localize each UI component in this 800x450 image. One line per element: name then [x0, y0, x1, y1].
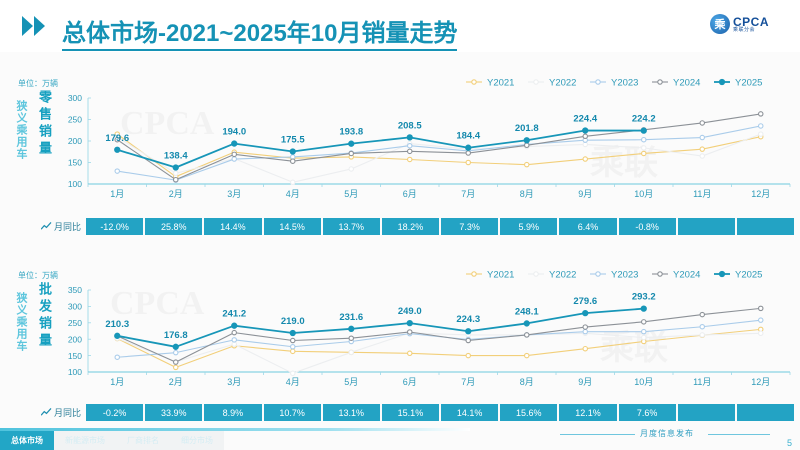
series-point-Y2023 [232, 157, 236, 161]
data-label: 208.5 [398, 120, 422, 131]
series-point-Y2023 [291, 155, 295, 159]
retail-panel: 单位：万辆 狭义乘用车 零售销量 1001502002503001月2月3月4月… [0, 60, 800, 250]
series-point-Y2025 [173, 165, 178, 170]
y-tick-label: 100 [68, 367, 82, 377]
series-point-Y2024 [349, 151, 353, 155]
series-line-Y2025 [117, 309, 644, 347]
series-point-Y2022 [642, 146, 646, 150]
series-point-Y2022 [174, 171, 178, 175]
table-cell: 33.9% [145, 404, 202, 421]
x-tick-label: 2月 [169, 377, 183, 387]
retail-table: 月同比 -12.0%25.8%14.4%14.5%13.7%18.2%7.3%5… [18, 218, 794, 235]
series-point-Y2021 [700, 147, 704, 151]
retail-chart: 1001502002503001月2月3月4月5月6月7月8月9月10月11月1… [58, 72, 794, 202]
series-point-Y2024 [408, 330, 412, 334]
series-point-Y2023 [291, 345, 295, 349]
slide-page: 总体市场-2021~2025年10月销量走势 乘 CPCA 乘联分会 CPCA … [0, 0, 800, 450]
data-label: 224.4 [573, 114, 597, 125]
data-label: 249.0 [398, 306, 422, 317]
trend-up-icon [41, 408, 52, 417]
data-label: 210.3 [105, 319, 129, 330]
series-point-Y2025 [232, 141, 237, 146]
series-point-Y2025 [583, 310, 588, 315]
series-point-Y2024 [759, 306, 763, 310]
footer-rule-left [560, 434, 635, 435]
legend-marker [472, 80, 476, 84]
series-point-Y2023 [642, 138, 646, 142]
series-point-Y2024 [583, 134, 587, 138]
footer-tabs[interactable]: 总体市场新能源市场厂商排名细分市场 [0, 431, 224, 450]
table-cell: -0.2% [86, 404, 143, 421]
series-point-Y2023 [115, 355, 119, 359]
series-point-Y2023 [408, 144, 412, 148]
table-cell [737, 404, 794, 421]
series-point-Y2025 [641, 306, 646, 311]
x-tick-label: 9月 [578, 377, 592, 387]
table-cell: 8.9% [204, 404, 261, 421]
unit-label: 单位：万辆 [18, 270, 58, 281]
table-cell: 7.6% [619, 404, 676, 421]
series-point-Y2024 [583, 325, 587, 329]
series-point-Y2024 [232, 330, 236, 334]
series-point-Y2025 [407, 135, 412, 140]
table-row-header: 月同比 [18, 218, 86, 235]
series-point-Y2023 [700, 325, 704, 329]
series-point-Y2022 [349, 167, 353, 171]
x-tick-label: 9月 [578, 189, 592, 199]
table-cell: 14.4% [204, 218, 261, 235]
x-tick-label: 4月 [286, 377, 300, 387]
legend-marker [719, 79, 724, 84]
table-cell: 13.1% [323, 404, 380, 421]
x-tick-label: 8月 [520, 189, 534, 199]
series-line-Y2021 [117, 329, 761, 367]
series-point-Y2022 [583, 142, 587, 146]
series-point-Y2024 [291, 159, 295, 163]
series-point-Y2021 [408, 157, 412, 161]
data-label: 176.8 [164, 330, 188, 341]
footer-tab-1[interactable]: 新能源市场 [54, 431, 116, 450]
wholesale-panel: 单位：万辆 狭义乘用车 批发销量 1001502002503003501月2月3… [0, 252, 800, 432]
series-point-Y2025 [466, 145, 471, 150]
footer-tab-3[interactable]: 细分市场 [170, 431, 224, 450]
series-point-Y2024 [525, 143, 529, 147]
data-label: 224.3 [456, 314, 480, 325]
y-tick-label: 200 [68, 136, 82, 146]
legend-label-Y2021: Y2021 [487, 77, 514, 88]
table-cell: 25.8% [145, 218, 202, 235]
cpca-logo-icon: 乘 [710, 14, 730, 34]
x-tick-label: 12月 [751, 377, 770, 387]
x-tick-label: 10月 [634, 377, 653, 387]
legend-label-Y2023: Y2023 [611, 269, 638, 280]
legend-marker [658, 272, 662, 276]
y-tick-label: 100 [68, 179, 82, 189]
table-row-label: 月同比 [54, 406, 81, 419]
x-tick-label: 11月 [693, 189, 711, 199]
series-point-Y2025 [524, 321, 529, 326]
legend-marker [596, 272, 600, 276]
logo-subtext: 乘联分会 [733, 28, 769, 33]
legend-marker [472, 272, 476, 276]
series-point-Y2024 [408, 149, 412, 153]
series-point-Y2022 [759, 331, 763, 335]
series-point-Y2021 [525, 162, 529, 166]
legend-label-Y2025: Y2025 [735, 269, 762, 280]
series-point-Y2025 [407, 321, 412, 326]
chevron-double-right-icon [22, 16, 45, 36]
series-point-Y2023 [174, 350, 178, 354]
series-point-Y2024 [174, 360, 178, 364]
data-label: 193.8 [339, 127, 363, 138]
series-point-Y2023 [115, 169, 119, 173]
y-tick-label: 150 [68, 351, 82, 361]
series-point-Y2022 [759, 132, 763, 136]
series-point-Y2023 [759, 318, 763, 322]
series-point-Y2025 [349, 326, 354, 331]
series-point-Y2021 [583, 157, 587, 161]
series-point-Y2022 [700, 154, 704, 158]
wholesale-chart: 1001502002503003501月2月3月4月5月6月7月8月9月10月1… [58, 264, 794, 390]
series-point-Y2022 [349, 350, 353, 354]
table-cell: 14.1% [441, 404, 498, 421]
legend-label-Y2024: Y2024 [673, 77, 700, 88]
data-label: 175.5 [281, 135, 305, 146]
category-label: 狭义乘用车 [10, 100, 26, 160]
y-tick-label: 200 [68, 334, 82, 344]
series-point-Y2024 [642, 320, 646, 324]
x-tick-label: 3月 [227, 377, 241, 387]
table-cell: 5.9% [500, 218, 557, 235]
series-point-Y2024 [759, 112, 763, 116]
table-cell: 18.2% [382, 218, 439, 235]
footer-caption: 月度信息发布 [640, 428, 694, 439]
y-tick-label: 250 [68, 318, 82, 328]
data-label: 241.2 [222, 309, 246, 320]
series-point-Y2022 [291, 371, 295, 375]
footer-right: 月度信息发布 [560, 428, 790, 450]
y-tick-label: 350 [68, 285, 82, 295]
legend-label-Y2023: Y2023 [611, 77, 638, 88]
table-cell: 7.3% [441, 218, 498, 235]
series-point-Y2024 [466, 338, 470, 342]
table-row-label: 月同比 [54, 220, 81, 233]
series-line-Y2022 [117, 134, 761, 182]
legend-label-Y2022: Y2022 [549, 77, 576, 88]
series-point-Y2024 [700, 121, 704, 125]
series-point-Y2025 [583, 128, 588, 133]
table-cell [678, 404, 735, 421]
series-point-Y2022 [700, 333, 704, 337]
data-label: 201.8 [515, 123, 539, 134]
category-label: 狭义乘用车 [10, 292, 26, 352]
data-label: 179.6 [105, 133, 129, 144]
x-tick-label: 6月 [403, 189, 417, 199]
x-tick-label: 11月 [693, 377, 711, 387]
legend-marker [658, 80, 662, 84]
y-tick-label: 300 [68, 93, 82, 103]
data-label: 138.4 [164, 150, 188, 161]
cpca-logo: 乘 CPCA 乘联分会 [710, 12, 786, 36]
series-point-Y2025 [466, 329, 471, 334]
table-cell: 13.7% [323, 218, 380, 235]
y-tick-label: 300 [68, 302, 82, 312]
table-cell: -12.0% [86, 218, 143, 235]
series-point-Y2023 [759, 124, 763, 128]
data-label: 231.6 [339, 312, 363, 323]
legend-marker [534, 272, 538, 276]
page-header: 总体市场-2021~2025年10月销量走势 乘 CPCA 乘联分会 [0, 0, 800, 52]
table-cell: 10.7% [264, 404, 321, 421]
table-cell: -0.8% [619, 218, 676, 235]
x-tick-label: 12月 [751, 189, 770, 199]
x-tick-label: 1月 [110, 377, 124, 387]
x-tick-label: 8月 [520, 377, 534, 387]
series-point-Y2021 [642, 151, 646, 155]
series-point-Y2021 [466, 353, 470, 357]
series-point-Y2025 [349, 141, 354, 146]
x-tick-label: 5月 [344, 377, 358, 387]
x-tick-label: 4月 [286, 189, 300, 199]
table-cell [678, 218, 735, 235]
x-tick-label: 7月 [461, 377, 475, 387]
legend-marker [534, 80, 538, 84]
series-point-Y2025 [290, 149, 295, 154]
data-label: 279.6 [573, 296, 597, 307]
series-point-Y2025 [290, 330, 295, 335]
table-cell: 15.6% [500, 404, 557, 421]
series-point-Y2024 [232, 152, 236, 156]
y-tick-label: 250 [68, 115, 82, 125]
legend-label-Y2022: Y2022 [549, 269, 576, 280]
metric-label: 零售销量 [33, 90, 51, 158]
x-tick-label: 1月 [110, 189, 124, 199]
wholesale-table: 月同比 -0.2%33.9%8.9%10.7%13.1%15.1%14.1%15… [18, 404, 794, 421]
series-point-Y2024 [525, 333, 529, 337]
page-footer: 总体市场新能源市场厂商排名细分市场 月度信息发布 5 [0, 428, 800, 450]
series-point-Y2024 [174, 178, 178, 182]
series-point-Y2023 [583, 329, 587, 333]
series-point-Y2021 [525, 353, 529, 357]
legend-label-Y2021: Y2021 [487, 269, 514, 280]
series-point-Y2022 [291, 180, 295, 184]
table-cell: 12.1% [559, 404, 616, 421]
legend-label-Y2024: Y2024 [673, 269, 700, 280]
data-label: 224.2 [632, 114, 656, 125]
series-point-Y2021 [291, 349, 295, 353]
series-line-Y2021 [117, 134, 761, 177]
data-label: 184.4 [456, 131, 480, 142]
series-point-Y2021 [583, 347, 587, 351]
table-cell: 15.1% [382, 404, 439, 421]
logo-text: CPCA [733, 16, 769, 28]
data-label: 293.2 [632, 292, 656, 303]
footer-rule-right [708, 434, 770, 435]
series-point-Y2025 [641, 128, 646, 133]
data-label: 219.0 [281, 316, 305, 327]
series-point-Y2024 [349, 336, 353, 340]
data-label: 194.0 [222, 127, 246, 138]
legend-label-Y2025: Y2025 [735, 77, 762, 88]
table-row-header: 月同比 [18, 404, 86, 421]
series-point-Y2025 [232, 323, 237, 328]
page-title: 总体市场-2021~2025年10月销量走势 [62, 13, 457, 51]
legend-marker [596, 80, 600, 84]
data-label: 248.1 [515, 306, 539, 317]
x-tick-label: 2月 [169, 189, 183, 199]
series-point-Y2023 [232, 338, 236, 342]
x-tick-label: 5月 [344, 189, 358, 199]
table-cells: -12.0%25.8%14.4%14.5%13.7%18.2%7.3%5.9%6… [86, 218, 794, 235]
trend-up-icon [41, 222, 52, 231]
series-point-Y2023 [642, 329, 646, 333]
metric-label: 批发销量 [33, 282, 51, 350]
unit-label: 单位：万辆 [18, 78, 58, 89]
y-tick-label: 150 [68, 158, 82, 168]
series-point-Y2025 [524, 138, 529, 143]
table-cell [737, 218, 794, 235]
series-point-Y2025 [115, 333, 120, 338]
series-line-Y2023 [117, 320, 761, 357]
series-point-Y2021 [466, 160, 470, 164]
footer-tab-2[interactable]: 厂商排名 [116, 431, 170, 450]
series-point-Y2023 [700, 135, 704, 139]
page-number: 5 [787, 438, 792, 448]
series-point-Y2025 [115, 147, 120, 152]
series-point-Y2025 [173, 344, 178, 349]
series-point-Y2021 [408, 351, 412, 355]
series-point-Y2024 [700, 312, 704, 316]
x-tick-label: 10月 [634, 189, 653, 199]
table-cells: -0.2%33.9%8.9%10.7%13.1%15.1%14.1%15.6%1… [86, 404, 794, 421]
x-tick-label: 6月 [403, 377, 417, 387]
series-line-Y2023 [117, 126, 761, 180]
footer-tab-0[interactable]: 总体市场 [0, 431, 54, 450]
series-point-Y2024 [291, 338, 295, 342]
x-tick-label: 3月 [227, 189, 241, 199]
table-cell: 6.4% [559, 218, 616, 235]
series-point-Y2021 [174, 365, 178, 369]
series-point-Y2022 [642, 335, 646, 339]
x-tick-label: 7月 [461, 189, 475, 199]
series-point-Y2024 [466, 151, 470, 155]
legend-marker [719, 271, 724, 276]
table-cell: 14.5% [264, 218, 321, 235]
